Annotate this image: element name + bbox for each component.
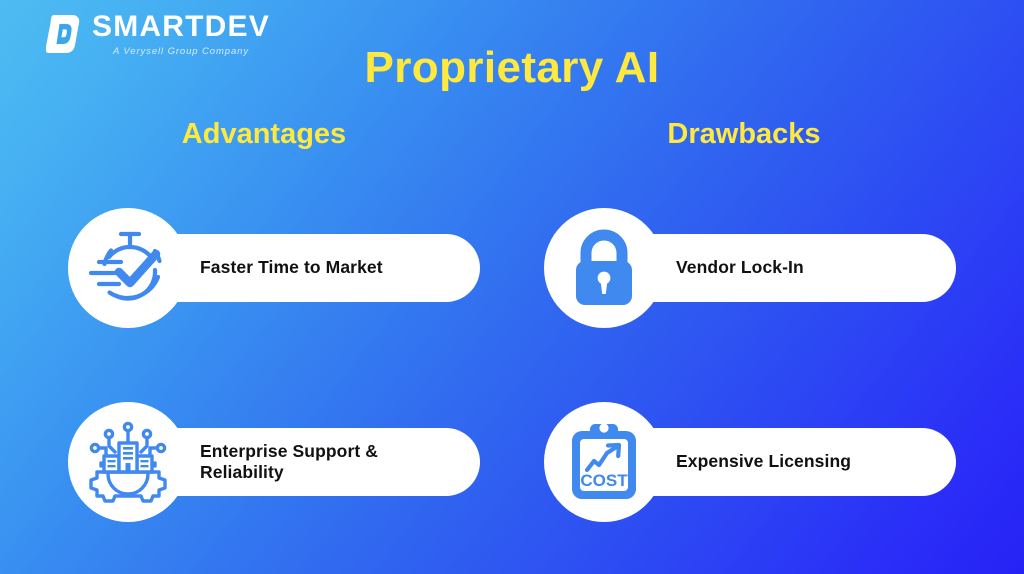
card-expensive-licensing[interactable]: Expensive Licensing COST — [544, 402, 956, 522]
brand-name: SMARTDEV — [92, 12, 270, 42]
cost-label: COST — [580, 471, 628, 490]
card-label: Expensive Licensing — [676, 451, 851, 472]
enterprise-gear-icon — [84, 418, 172, 506]
card-icon-badge: COST — [544, 402, 664, 522]
page-title: Proprietary AI — [0, 43, 1024, 93]
column-heading-drawbacks: Drawbacks — [544, 118, 944, 151]
card-label: Vendor Lock-In — [676, 257, 804, 278]
stopwatch-check-icon — [85, 225, 171, 311]
cost-clipboard-chart-icon: COST — [563, 420, 645, 504]
column-heading-advantages: Advantages — [64, 118, 464, 151]
card-icon-badge — [68, 402, 188, 522]
card-icon-badge — [68, 208, 188, 328]
card-enterprise-support-reliability[interactable]: Enterprise Support & Reliability — [68, 402, 480, 522]
card-label: Enterprise Support & Reliability — [200, 441, 462, 484]
card-vendor-lock-in[interactable]: Vendor Lock-In — [544, 208, 956, 328]
padlock-icon — [564, 227, 644, 309]
card-faster-time-to-market[interactable]: Faster Time to Market — [68, 208, 480, 328]
card-icon-badge — [544, 208, 664, 328]
card-label: Faster Time to Market — [200, 257, 383, 278]
